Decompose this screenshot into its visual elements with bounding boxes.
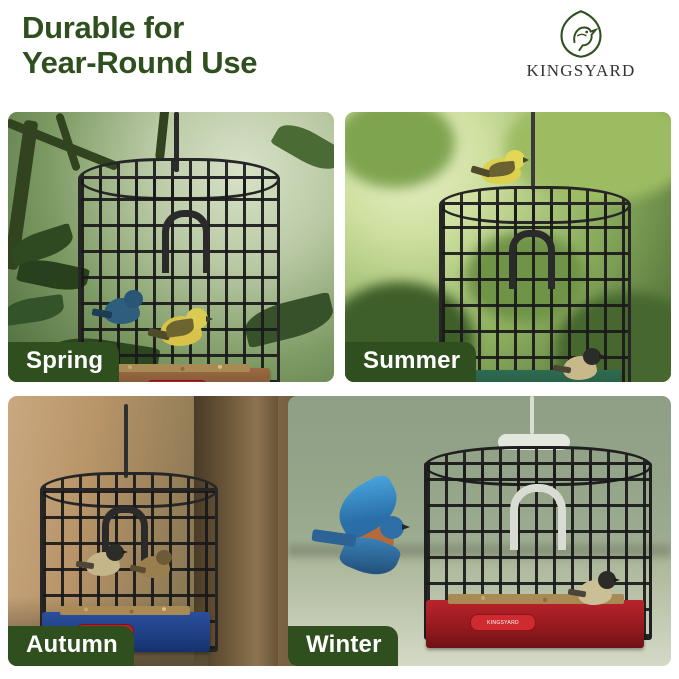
bird-chickadee xyxy=(84,542,138,584)
brand-name: KINGSYARD xyxy=(526,61,635,81)
photo-cell-autumn: KINGSYARD Autumn xyxy=(8,396,334,666)
bird-head xyxy=(124,290,143,308)
bird-beak xyxy=(122,550,128,554)
inner-hook xyxy=(510,484,566,550)
product-lifestyle-image: Durable for Year-Round Use KINGSYARD xyxy=(0,0,679,679)
bird-in-leaf-icon xyxy=(555,8,607,60)
photo-grid: KINGSYARD Spring xyxy=(8,112,671,672)
header: Durable for Year-Round Use KINGSYARD xyxy=(0,0,679,112)
seed-fill xyxy=(60,606,190,615)
bird-sparrow xyxy=(136,546,186,586)
bird-eastern-bluebird-flying xyxy=(302,488,432,580)
brand-logo: KINGSYARD xyxy=(501,8,661,94)
photo-cell-winter: KINGSYARD Wi xyxy=(288,396,671,666)
brand-badge: KINGSYARD xyxy=(470,614,536,631)
inner-hook xyxy=(509,230,555,289)
headline-line-1: Durable for xyxy=(22,10,184,45)
bird-beak xyxy=(599,354,605,358)
bird-beak xyxy=(206,316,213,322)
bird-beak xyxy=(523,157,529,163)
page-title: Durable for Year-Round Use xyxy=(22,10,502,80)
bird-head xyxy=(156,550,172,565)
photo-cell-spring: KINGSYARD Spring xyxy=(8,112,334,382)
seed-fill xyxy=(100,364,250,372)
caption-autumn: Autumn xyxy=(8,626,134,666)
bird-yellow-warbler xyxy=(154,304,220,352)
bird-beak xyxy=(402,524,410,530)
bird-feeder: KINGSYARD xyxy=(418,404,658,666)
headline-line-2: Year-Round Use xyxy=(22,45,502,80)
bird-chickadee xyxy=(576,568,630,612)
caption-winter: Winter xyxy=(288,626,398,666)
inner-hook xyxy=(162,210,210,273)
brand-badge: KINGSYARD xyxy=(146,380,208,382)
photo-cell-summer: KINGSYARD Summer xyxy=(345,112,671,382)
caption-spring: Spring xyxy=(8,342,119,382)
caption-summer: Summer xyxy=(345,342,476,382)
bird-chickadee xyxy=(561,346,615,382)
bird-blue xyxy=(100,288,154,330)
bird-goldfinch xyxy=(477,144,537,190)
hanger-rod xyxy=(124,404,128,478)
bird-beak xyxy=(614,578,620,582)
hanger-rod xyxy=(530,396,534,434)
